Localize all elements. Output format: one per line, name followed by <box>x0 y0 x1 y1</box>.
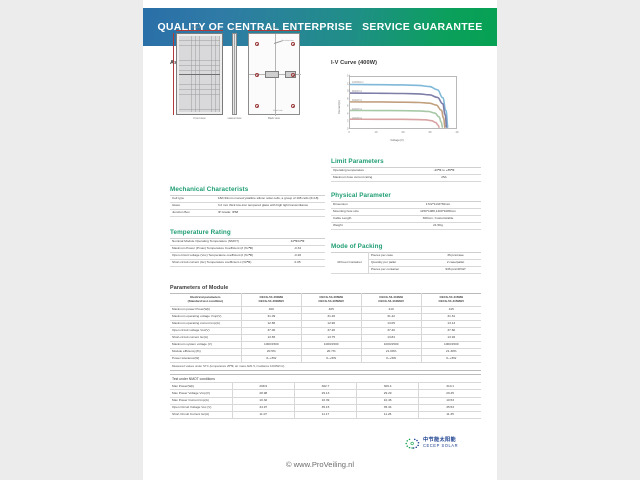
row-value: 36 pcs/case <box>430 253 481 260</box>
front-view-panel <box>176 33 223 115</box>
row-label: Pieces per case <box>369 253 431 260</box>
row-value: 28.98 <box>232 390 294 397</box>
iv-curve-title: I-V Curve (400W) <box>331 60 481 66</box>
front-view-caption: Front view <box>176 117 223 120</box>
x-axis-label: Voltage(V) <box>390 138 404 142</box>
row-label: Cell type <box>170 196 216 203</box>
row-value: 10.32 <box>232 397 294 404</box>
nmot-conditions-section: Test under NMOT conditions Max Power(Wp)… <box>170 374 481 419</box>
curve-label-600W/m²: 600W/m² <box>352 99 362 102</box>
row-value: 21.30% <box>421 349 481 356</box>
row-label: Dimension <box>331 202 395 209</box>
x-axis-tick-label: 30 <box>429 131 432 134</box>
temperature-rating-section: Temperature Rating Nominal Module Operat… <box>170 229 325 267</box>
curve-label-200W/m²: 200W/m² <box>352 117 362 120</box>
row-label: Cable Length <box>331 216 395 223</box>
row-value: 31.26 <box>301 313 361 320</box>
row-value: 31.09 <box>241 313 301 320</box>
row-label: Power tolerance(W) <box>170 356 241 363</box>
row-value: 300mm; Customizable <box>395 216 481 223</box>
curve-label-800W/m²: 800W/m² <box>352 90 362 93</box>
assembly-drawing-figure: 1134mm Front view Lateral view 30mm 1150… <box>170 27 325 122</box>
thickness-label: 30mm <box>232 28 238 30</box>
parameters-of-module-table: Electrical parameters(Standard test cond… <box>170 293 481 371</box>
row-value: 1722*1134*30mm <box>395 202 481 209</box>
iv-curve-600W/m² <box>350 102 445 128</box>
row-value: 2 case/pallet <box>430 260 481 267</box>
row-value: 298.9 <box>232 383 294 390</box>
drain-hole-label: Drain hole <box>273 110 282 112</box>
row-value: 3.2 mm thick low-iron tempered glass wit… <box>216 203 325 210</box>
mounting-hole-icon <box>255 104 259 108</box>
row-value: 42℃±2℃ <box>270 239 325 246</box>
table-row: Cell type 182×91mm monocrystalline silic… <box>170 196 325 203</box>
chart-plot-area <box>349 76 457 129</box>
row-value: -0.34 <box>270 246 325 253</box>
table-row: Maximum power Pmax(Wp)400405410415 <box>170 306 481 313</box>
row-value: 400 <box>241 306 301 313</box>
mechanical-characteristics-table: Cell type 182×91mm monocrystalline silic… <box>170 195 325 217</box>
row-value: 310.1 <box>419 383 481 390</box>
column-header-label: Electrical parameters(Standard test cond… <box>170 294 241 307</box>
mode-of-packing-title: Mode of Packing <box>331 243 481 250</box>
table-row: Open-circuit voltage (Voc) Temperature c… <box>170 253 325 260</box>
row-value: 12.86 <box>241 320 301 327</box>
nmot-table: Test under NMOT conditions Max Power(Wp)… <box>170 374 481 419</box>
iv-curve-chart: Current(A) Voltage(V) 02468101214 010203… <box>331 72 463 142</box>
nmot-table-body: Max Power(Wp)298.9302.7306.4310.1Max Pow… <box>170 383 481 418</box>
row-label: Open-circuit voltage (Voc) Temperature c… <box>170 253 270 260</box>
row-label: Max Power Current Imp(A) <box>170 397 232 404</box>
mode-of-packing-table: 40 Feet Container Pieces per case 36 pcs… <box>331 252 481 274</box>
row-value: 302.7 <box>294 383 356 390</box>
datasheet-page: QUALITY OF CENTRAL ENTERPRISE SERVICE GU… <box>143 0 497 480</box>
limit-parameters-section: Limit Parameters Operating temperature -… <box>331 158 481 182</box>
row-label: Quantity per pallet <box>369 260 431 267</box>
back-view-caption: Back view <box>248 117 300 120</box>
width-dimension-label: 1134mm <box>192 27 201 29</box>
mounting-hole-icon <box>291 104 295 108</box>
row-value: -0.26 <box>270 253 325 260</box>
mechanical-characteristics-section: Mechanical Characterists Cell type 182×9… <box>170 186 325 217</box>
stc-note: Measured values under STC (temperature 2… <box>170 363 481 370</box>
row-value: 37.00 <box>241 327 301 334</box>
x-axis-tick-label: 20 <box>402 131 405 134</box>
table-row: Dimension 1722*1134*30mm <box>331 202 481 209</box>
row-value: 13.75 <box>301 334 361 341</box>
row-value: 182×91mm monocrystalline silicon solar c… <box>216 196 325 203</box>
table-row: Maximum operating current Imp(A)12.8612.… <box>170 320 481 327</box>
table-row: Power tolerance(W)0~+5W0~+5W0~+5W0~+5W <box>170 356 481 363</box>
x-axis-tick-label: 40 <box>456 131 459 134</box>
row-label: Short Circuit Current Isc(A) <box>170 411 232 418</box>
row-label: Maximum Power (Pmax) Temperature Coeffic… <box>170 246 270 253</box>
row-value: 35.34 <box>357 404 419 411</box>
table-row: Mounting hole size 1150*1088,1400*1088mm <box>331 209 481 216</box>
row-value: 13.84 <box>361 334 421 341</box>
table-header-row: Test under NMOT conditions <box>170 375 481 383</box>
table-row: Maximum Power (Pmax) Temperature Coeffic… <box>170 246 325 253</box>
row-label: Maximum fuse current rating <box>331 175 407 182</box>
row-value: 10.46 <box>357 397 419 404</box>
row-label: Operating temperature <box>331 168 407 175</box>
row-label: Open circuit voltage Voc(V) <box>170 327 241 334</box>
temperature-rating-table: Nominal Module Operating Temperature (NM… <box>170 238 325 267</box>
mount-span-label-1: 1150mm <box>270 27 278 29</box>
x-axis-tick-label: 10 <box>375 131 378 134</box>
mounting-hole-icon <box>255 42 259 46</box>
row-value: 11.07 <box>232 411 294 418</box>
table-row: 40 Feet Container Pieces per case 36 pcs… <box>331 253 481 260</box>
row-value: -40℃ to +85℃ <box>407 168 481 175</box>
row-value: 0.05 <box>270 260 325 267</box>
column-header-model-3: CECG-54-410MHCECG-54-410MHV <box>361 294 421 307</box>
logo-text-en: CECEP SOLAR <box>423 444 458 449</box>
table-row: Junction Box IP Grade: IP68 <box>170 210 325 217</box>
temperature-rating-title: Temperature Rating <box>170 229 325 236</box>
curve-label-1000W/m²: 1000W/m² <box>352 81 364 84</box>
physical-parameter-section: Physical Parameter Dimension 1722*1134*3… <box>331 192 481 230</box>
row-label: Weight <box>331 223 395 230</box>
limit-parameters-title: Limit Parameters <box>331 158 481 165</box>
row-value: 11.17 <box>294 411 356 418</box>
row-value: 37.40 <box>361 327 421 334</box>
row-value: 37.20 <box>301 327 361 334</box>
row-value: 29.13 <box>294 390 356 397</box>
y-axis-label: Current(A) <box>337 100 341 114</box>
row-value: 29.29 <box>357 390 419 397</box>
container-group-label: 40 Feet Container <box>331 253 369 274</box>
row-value: 410 <box>361 306 421 313</box>
column-header-model-2: CECG-54-405MHCECG-54-405MHV <box>301 294 361 307</box>
table-row: Cable Length 300mm; Customizable <box>331 216 481 223</box>
row-value: 13.94 <box>421 334 481 341</box>
row-label: Mounting hole size <box>331 209 395 216</box>
limit-parameters-table: Operating temperature -40℃ to +85℃ Maxim… <box>331 167 481 182</box>
row-value: 0~+5W <box>421 356 481 363</box>
table-row: Short-circuit current (Isc) Temperature … <box>170 260 325 267</box>
row-label: Open Circuit Voltage Voc (V) <box>170 404 232 411</box>
row-value: IP Grade: IP68 <box>216 210 325 217</box>
row-value: 405 <box>301 306 361 313</box>
row-value: 1000/1500 <box>361 342 421 349</box>
row-value: 10.39 <box>294 397 356 404</box>
row-value: 11.35 <box>419 411 481 418</box>
row-value: 13.05 <box>361 320 421 327</box>
column-header-model-4: CECG-54-415MHCECG-54-415MHV <box>421 294 481 307</box>
row-value: 13.13 <box>421 320 481 327</box>
iv-curve-200W/m² <box>350 119 440 128</box>
nmot-title: Test under NMOT conditions <box>170 375 481 383</box>
row-value: 35.53 <box>419 404 481 411</box>
table-row: Open Circuit Voltage Voc (V)34.9735.1535… <box>170 404 481 411</box>
company-logo: 中节能太阳能 CECEP SOLAR <box>405 437 458 450</box>
row-label: Glass <box>170 203 216 210</box>
mounting-hole-icon <box>291 42 295 46</box>
row-value: 0~+5W <box>301 356 361 363</box>
table-row: Open circuit voltage Voc(V)37.0037.2037.… <box>170 327 481 334</box>
table-row: Short-circuit current Isc(A)13.6513.7513… <box>170 334 481 341</box>
back-view-panel <box>248 33 300 115</box>
row-value: 10.53 <box>419 397 481 404</box>
row-label: Nominal Module Operating Temperature (NM… <box>170 239 270 246</box>
grounding-hole-icon <box>255 73 259 77</box>
row-label: Pieces per container <box>369 267 431 274</box>
row-label: Maximum operating current Imp(A) <box>170 320 241 327</box>
parameters-of-module-body: Maximum power Pmax(Wp)400405410415Maximu… <box>170 306 481 362</box>
solar-cell-grid <box>179 36 220 112</box>
table-row: Max Power(Wp)298.9302.7306.4310.1 <box>170 383 481 390</box>
junction-box-label: Junction box <box>282 40 294 42</box>
iv-curve-lines <box>350 77 456 128</box>
row-value: 21.5Kg <box>395 223 481 230</box>
row-value: 1000/1500 <box>301 342 361 349</box>
row-value: 306.4 <box>357 383 419 390</box>
row-value: 21.00% <box>361 349 421 356</box>
column-header-model-1: CECG-54-400MHCECG-54-400MHV <box>241 294 301 307</box>
row-value: 31.42 <box>361 313 421 320</box>
table-row: Maximum operating voltage Vmp(V)31.0931.… <box>170 313 481 320</box>
row-label: Max Power Voltage Vmp(V) <box>170 390 232 397</box>
parameters-of-module-title: Parameters of Module <box>170 285 481 291</box>
lateral-view-panel <box>232 33 237 115</box>
curve-label-400W/m²: 400W/m² <box>352 108 362 111</box>
row-label: Maximum system voltage (V) <box>170 342 241 349</box>
row-value: 31.61 <box>421 313 481 320</box>
row-value: 29.45 <box>419 390 481 397</box>
parameters-of-module-section: Parameters of Module Electrical paramete… <box>170 285 481 371</box>
table-header-row: Electrical parameters(Standard test cond… <box>170 294 481 307</box>
row-label: Max Power(Wp) <box>170 383 232 390</box>
row-label: Maximum power Pmax(Wp) <box>170 306 241 313</box>
mode-of-packing-section: Mode of Packing 40 Feet Container Pieces… <box>331 243 481 274</box>
table-row: Weight 21.5Kg <box>331 223 481 230</box>
row-value: 415 <box>421 306 481 313</box>
physical-parameter-table: Dimension 1722*1134*30mm Mounting hole s… <box>331 201 481 230</box>
table-row: Max Power Voltage Vmp(V)28.9829.1329.292… <box>170 390 481 397</box>
row-value: 34.97 <box>232 404 294 411</box>
table-row: Operating temperature -40℃ to +85℃ <box>331 168 481 175</box>
physical-parameter-title: Physical Parameter <box>331 192 481 199</box>
table-row: Maximum system voltage (V)1000/15001000/… <box>170 342 481 349</box>
row-label: Junction Box <box>170 210 216 217</box>
row-value: 20.7% <box>301 349 361 356</box>
row-value: 25A <box>407 175 481 182</box>
row-value: 0~+5W <box>241 356 301 363</box>
row-label: Short-circuit current (Isc) Temperature … <box>170 260 270 267</box>
row-value: 936 pcs/40'GP <box>430 267 481 274</box>
row-value: 35.15 <box>294 404 356 411</box>
row-label: Module efficiency(%) <box>170 349 241 356</box>
row-value: 12.96 <box>301 320 361 327</box>
row-value: 1000/1500 <box>241 342 301 349</box>
row-value: 11.26 <box>357 411 419 418</box>
row-value: 1000/1500 <box>421 342 481 349</box>
table-row: Nominal Module Operating Temperature (NM… <box>170 239 325 246</box>
row-value: 13.65 <box>241 334 301 341</box>
lateral-view-caption: Lateral view <box>227 117 242 120</box>
table-row: Module efficiency(%)20.5%20.7%21.00%21.3… <box>170 349 481 356</box>
table-row: Short Circuit Current Isc(A)11.0711.1711… <box>170 411 481 418</box>
row-label: Short-circuit current Isc(A) <box>170 334 241 341</box>
row-value: 0~+5W <box>361 356 421 363</box>
junction-box-shape <box>265 71 279 78</box>
row-value: 20.5% <box>241 349 301 356</box>
row-value: 1150*1088,1400*1088mm <box>395 209 481 216</box>
iv-curve-section: I-V Curve (400W) <box>331 60 481 66</box>
watermark-text: © www.ProVeiling.nl <box>143 460 497 469</box>
x-axis-tick-label: 0 <box>348 131 349 134</box>
row-label: Maximum operating voltage Vmp(V) <box>170 313 241 320</box>
cecep-solar-logo-icon <box>405 437 420 450</box>
table-row: Maximum fuse current rating 25A <box>331 175 481 182</box>
row-value: 37.60 <box>421 327 481 334</box>
table-note-row: Measured values under STC (temperature 2… <box>170 363 481 370</box>
mechanical-characteristics-title: Mechanical Characterists <box>170 186 325 193</box>
table-row: Glass 3.2 mm thick low-iron tempered gla… <box>170 203 325 210</box>
table-row: Max Power Current Imp(A)10.3210.3910.461… <box>170 397 481 404</box>
logo-text: 中节能太阳能 CECEP SOLAR <box>423 438 458 449</box>
